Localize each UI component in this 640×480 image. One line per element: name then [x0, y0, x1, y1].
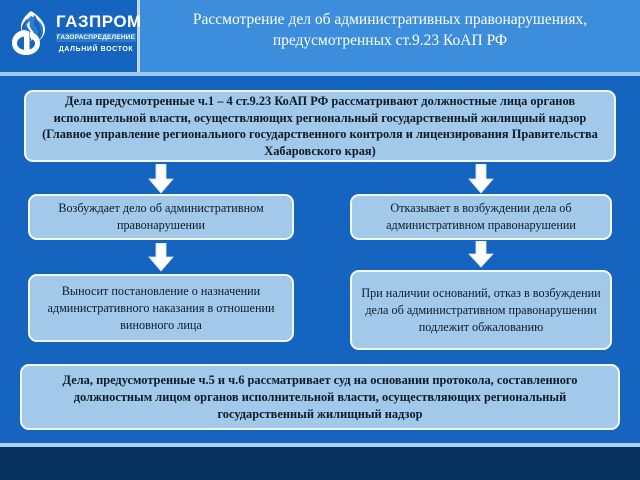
logo-subtitle-region: ДАЛЬНИЙ ВОСТОК: [56, 45, 136, 55]
flow-node-bottom-text: Дела, предусмотренные ч.5 и ч.6 рассматр…: [30, 372, 610, 423]
flow-node-right-2: При наличии оснований, отказ в возбужден…: [350, 270, 612, 350]
flow-node-right-1: Отказывает в возбуждении дела об админис…: [350, 194, 612, 240]
slide-header: ГАЗПРОМ ГАЗОРАСПРЕДЕЛЕНИЕ ДАЛЬНИЙ ВОСТОК…: [0, 0, 640, 72]
flow-node-top-text: Дела предусмотренные ч.1 – 4 ст.9.23 КоА…: [34, 93, 606, 159]
gazprom-flame-icon: [10, 7, 56, 57]
flow-node-bottom: Дела, предусмотренные ч.5 и ч.6 рассматр…: [20, 364, 620, 430]
flow-node-left-2: Выносит постановление о назначении админ…: [28, 274, 294, 342]
arrow-down-icon-left-2: [148, 243, 174, 272]
arrow-down-icon-right-1: [468, 164, 494, 194]
arrow-down-icon-right-2: [468, 241, 494, 268]
header-vertical-divider: [137, 0, 140, 72]
gazprom-logo: ГАЗПРОМ ГАЗОРАСПРЕДЕЛЕНИЕ ДАЛЬНИЙ ВОСТОК: [8, 4, 132, 68]
slide-footer: [0, 447, 640, 480]
flow-node-top: Дела предусмотренные ч.1 – 4 ст.9.23 КоА…: [24, 90, 616, 162]
flow-node-left-2-text: Выносит постановление о назначении админ…: [38, 283, 284, 334]
arrow-down-icon-left-1: [148, 164, 174, 194]
flow-node-right-2-text: При наличии оснований, отказ в возбужден…: [360, 285, 602, 336]
flow-node-right-1-text: Отказывает в возбуждении дела об админис…: [360, 200, 602, 234]
slide-canvas: ГАЗПРОМ ГАЗОРАСПРЕДЕЛЕНИЕ ДАЛЬНИЙ ВОСТОК…: [0, 0, 640, 480]
flow-node-left-1: Возбуждает дело об административном прав…: [28, 194, 294, 240]
page-title: Рассмотрение дел об административных пра…: [146, 9, 634, 51]
logo-brand-text: ГАЗПРОМ: [56, 13, 132, 30]
flow-node-left-1-text: Возбуждает дело об административном прав…: [38, 200, 284, 234]
logo-subtitle-distribution: ГАЗОРАСПРЕДЕЛЕНИЕ: [56, 33, 136, 42]
